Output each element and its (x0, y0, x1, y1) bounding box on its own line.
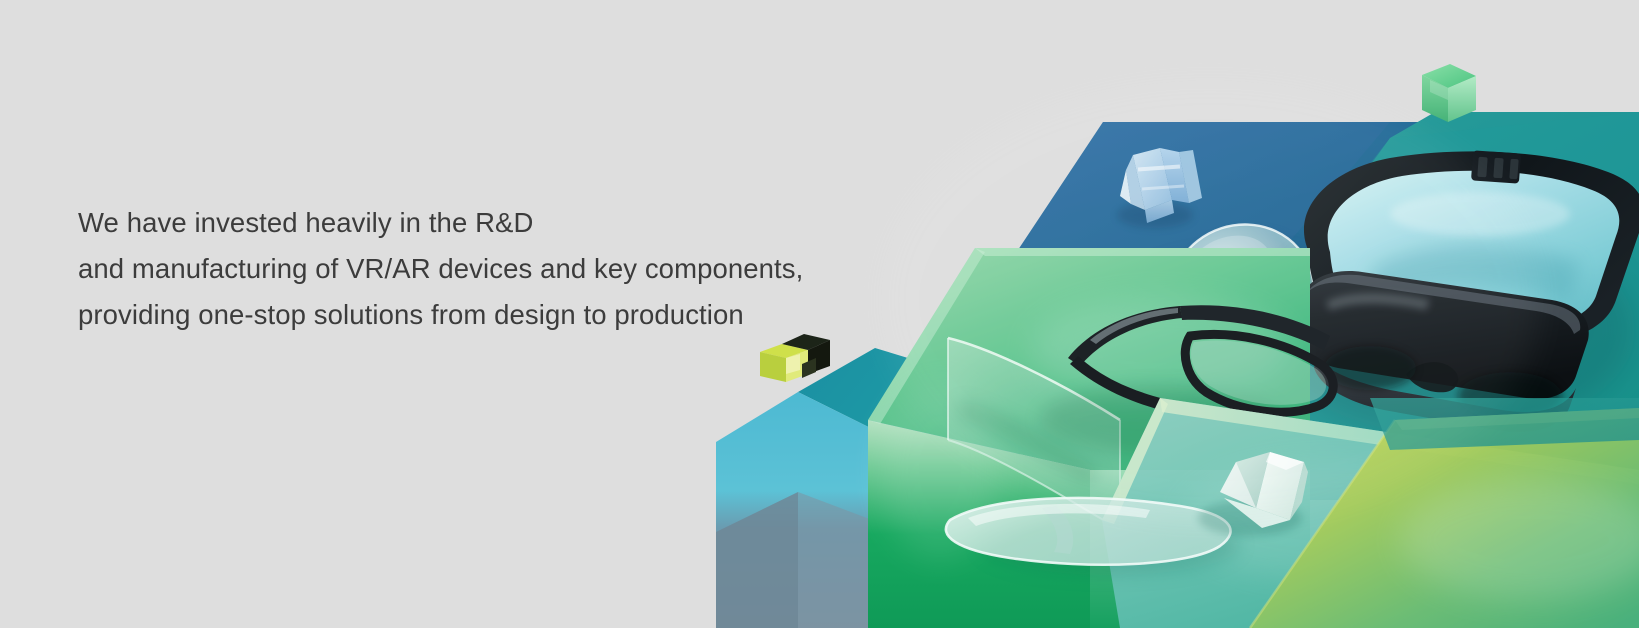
green-cube-marker-top (1422, 64, 1476, 122)
lime-cube-marker-left (760, 334, 830, 382)
headline-line-2: and manufacturing of VR/AR devices and k… (78, 246, 868, 292)
headline: We have invested heavily in the R&D and … (78, 200, 868, 338)
headline-line-3: providing one-stop solutions from design… (78, 292, 868, 338)
headline-line-1: We have invested heavily in the R&D (78, 200, 868, 246)
hero-banner: We have invested heavily in the R&D and … (0, 0, 1639, 628)
